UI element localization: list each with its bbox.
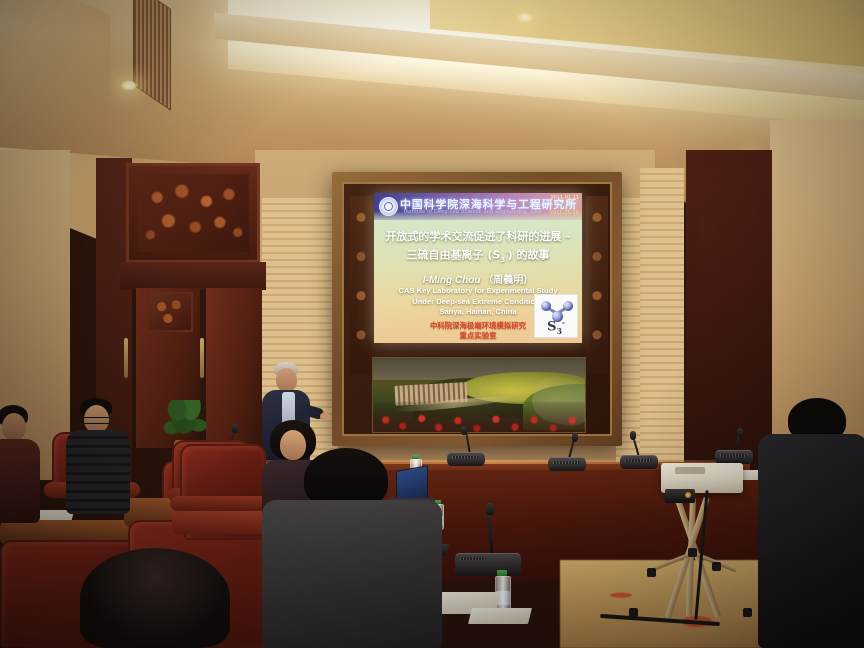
presenter-head: [276, 368, 297, 392]
microphone-head: [461, 426, 467, 435]
painting-red-flowers: [373, 402, 585, 432]
audience-member-front-center: [262, 448, 442, 648]
microphone-base: [715, 450, 753, 464]
slide-author-cn: （周義明）: [483, 275, 533, 286]
microphone-head: [232, 424, 238, 433]
microphone-base: [447, 452, 485, 466]
eyeglasses-icon: [83, 417, 110, 424]
door-handle[interactable]: [124, 338, 128, 378]
projected-slide: 中国科学院深海科学与工程研究所 Institute of Deep-sea Sc…: [374, 193, 582, 343]
microphone-head: [630, 431, 636, 440]
person-hair: [80, 548, 230, 648]
audience-member-foreground-bottom: [60, 548, 260, 648]
microphone-head: [486, 503, 494, 515]
sulfur-atom-icon: [563, 301, 573, 311]
molecule-figure: S3-: [534, 294, 578, 338]
slide-date-top: 2011.01.11: [551, 195, 579, 201]
frame-carving-left: [350, 196, 372, 374]
right-wall-slats: [640, 168, 684, 468]
slide-author: I-Ming Chou （周義明）: [374, 271, 582, 286]
slide-date-bottom: 2016.05.10: [550, 210, 579, 216]
slide-author-en: I-Ming Chou: [423, 275, 481, 286]
audience-member-right-edge: [758, 398, 864, 648]
slide-title-line2-pre: 三硫自由基离子 (S: [406, 249, 500, 262]
person-puffer-jacket: [66, 430, 130, 514]
slide-title-line1: 开放式的学术交流促进了科研的进展 –: [374, 229, 582, 245]
audience-member-left-edge: [0, 405, 44, 525]
frame-carving-right: [586, 196, 608, 374]
slide-title-line2-post: ) 的故事: [508, 249, 550, 262]
slide-header-band: 中国科学院深海科学与工程研究所 Institute of Deep-sea Sc…: [374, 193, 582, 220]
microphone-base: [620, 455, 658, 469]
molecule-label: S3-: [535, 318, 577, 336]
tripod-clamp[interactable]: [688, 548, 697, 557]
ceiling-downlight: [516, 12, 534, 23]
slide-title: 开放式的学术交流促进了科研的进展 – 三硫自由基离子 (S3-) 的故事: [374, 229, 582, 268]
door-carved-inset: [147, 292, 193, 332]
tripod-clamp[interactable]: [743, 608, 752, 617]
tripod-clamp[interactable]: [712, 562, 721, 571]
carved-wood-panel: [126, 163, 260, 263]
molecule-label-sub: 3: [556, 326, 562, 336]
person-torso: [758, 434, 864, 648]
person-head: [2, 413, 26, 441]
molecule-label-charge: -: [562, 318, 565, 327]
person-torso: [262, 500, 442, 648]
ceiling-downlight: [120, 80, 138, 91]
cas-seal-icon: [379, 197, 398, 216]
person-torso: [0, 439, 40, 523]
right-dark-recess-inner: [700, 168, 760, 480]
landscape-oil-painting: [372, 357, 586, 433]
audience-member-puffer-jacket: [66, 398, 130, 514]
microphone-head: [572, 433, 578, 442]
tripod-clamp[interactable]: [647, 568, 656, 577]
sulfur-atom-icon: [541, 301, 551, 311]
microphone-base: [548, 457, 586, 471]
door-handle[interactable]: [200, 338, 204, 378]
slide-title-sub: 3: [500, 256, 505, 264]
microphone-base: [455, 553, 521, 576]
microphone-head: [737, 428, 743, 437]
slide-title-line2: 三硫自由基离子 (S3-) 的故事: [374, 245, 582, 268]
slide-org-en: Institute of Deep-sea Science and Engine…: [404, 209, 542, 215]
papers-on-table: [468, 608, 532, 624]
door-header-beam: [120, 262, 266, 290]
projector-lens: [665, 489, 695, 503]
carved-wood-relief: [137, 174, 249, 252]
conference-room-photo: 中国科学院深海科学与工程研究所 Institute of Deep-sea Sc…: [0, 0, 864, 648]
